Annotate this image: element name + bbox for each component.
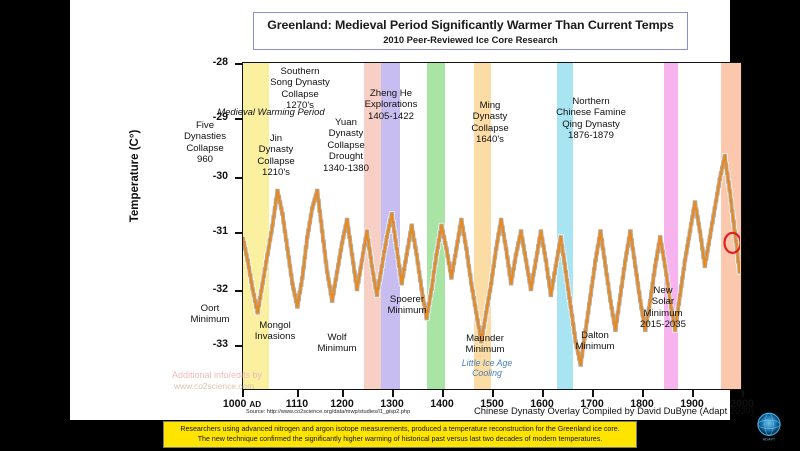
- x-tick-mark: [392, 390, 394, 397]
- x-tick-mark: [342, 390, 344, 397]
- chart-title: Greenland: Medieval Period Significantly…: [267, 18, 674, 32]
- annotation-five-dynasties-collapse: Five Dynasties Collapse 960: [168, 120, 242, 166]
- annotation-yuan-dynasty-collapse-drought: Yuan Dynasty Collapse Drought 1340-1380: [311, 117, 381, 174]
- annotation-new-solar-minimum: New Solar Minimum 2015-2035: [632, 285, 694, 331]
- x-tick-mark: [742, 390, 744, 397]
- x-tick-mark: [442, 390, 444, 397]
- caption-line-2: The new technique confirmed the signific…: [198, 435, 603, 445]
- watermark-line-2: www.co2science.com: [174, 381, 254, 391]
- annotation-spoerer-minimum: Spoerer Minimum: [374, 294, 440, 317]
- y-tick-label: -32: [182, 283, 228, 295]
- globe-logo-icon: ADAPT: [752, 409, 786, 443]
- watermark-line-1: Additional info/edits by: [172, 370, 262, 380]
- x-tick-mark: [692, 390, 694, 397]
- y-tick-label: -30: [182, 170, 228, 182]
- y-tick-label: -33: [182, 338, 228, 350]
- annotation-jin-dynasty-collapse: Jin Dynasty Collapse 1210's: [245, 133, 307, 179]
- caption-line-1: Researchers using advanced nitrogen and …: [180, 425, 619, 435]
- annotation-dalton-minimum: Dalton Minimum: [562, 330, 628, 353]
- x-tick-mark: [542, 390, 544, 397]
- x-tick-mark: [492, 390, 494, 397]
- chart-panel: Greenland: Medieval Period Significantly…: [70, 0, 730, 420]
- y-tick-label: -28: [182, 56, 228, 68]
- annotation-southern-song-dynasty-collapse: Southern Song Dynasty Collapse 1270's: [254, 66, 346, 112]
- y-axis-title: Temperature (C°): [129, 106, 141, 246]
- chart-title-box: Greenland: Medieval Period Significantly…: [253, 12, 688, 50]
- x-tick-mark: [592, 390, 594, 397]
- annotation-zheng-he-explorations: Zheng He Explorations 1405-1422: [352, 88, 430, 122]
- x-tick-mark: [642, 390, 644, 397]
- source-url[interactable]: Source: http://www.co2science.org/data/m…: [246, 409, 410, 415]
- annotation-maunder-minimum: Maunder Minimum: [452, 333, 518, 356]
- caption-box: Researchers using advanced nitrogen and …: [163, 421, 637, 448]
- annotation-wolf-minimum: Wolf Minimum: [306, 332, 368, 355]
- annotation-ming-dynasty-collapse: Ming Dynasty Collapse 1640's: [459, 100, 521, 146]
- screenshot-root: Greenland: Medieval Period Significantly…: [0, 0, 800, 451]
- annotation-little-ice-age-cooling: Little Ice Age Cooling: [452, 358, 522, 379]
- annotation-northern-chinese-famine: Northern Chinese Famine Qing Dynasty 187…: [543, 96, 639, 142]
- credit-line: Chinese Dynasty Overlay Compiled by Davi…: [474, 405, 754, 416]
- y-tick-label: -31: [182, 225, 228, 237]
- x-tick-mark: [297, 390, 299, 397]
- annotation-mongol-invasions: Mongol Invasions: [242, 320, 308, 343]
- svg-text:ADAPT: ADAPT: [763, 437, 776, 441]
- x-tick-mark: [242, 390, 244, 397]
- annotation-oort-minimum: Oort Minimum: [177, 303, 243, 326]
- chart-subtitle: 2010 Peer-Reviewed Ice Core Research: [383, 34, 558, 45]
